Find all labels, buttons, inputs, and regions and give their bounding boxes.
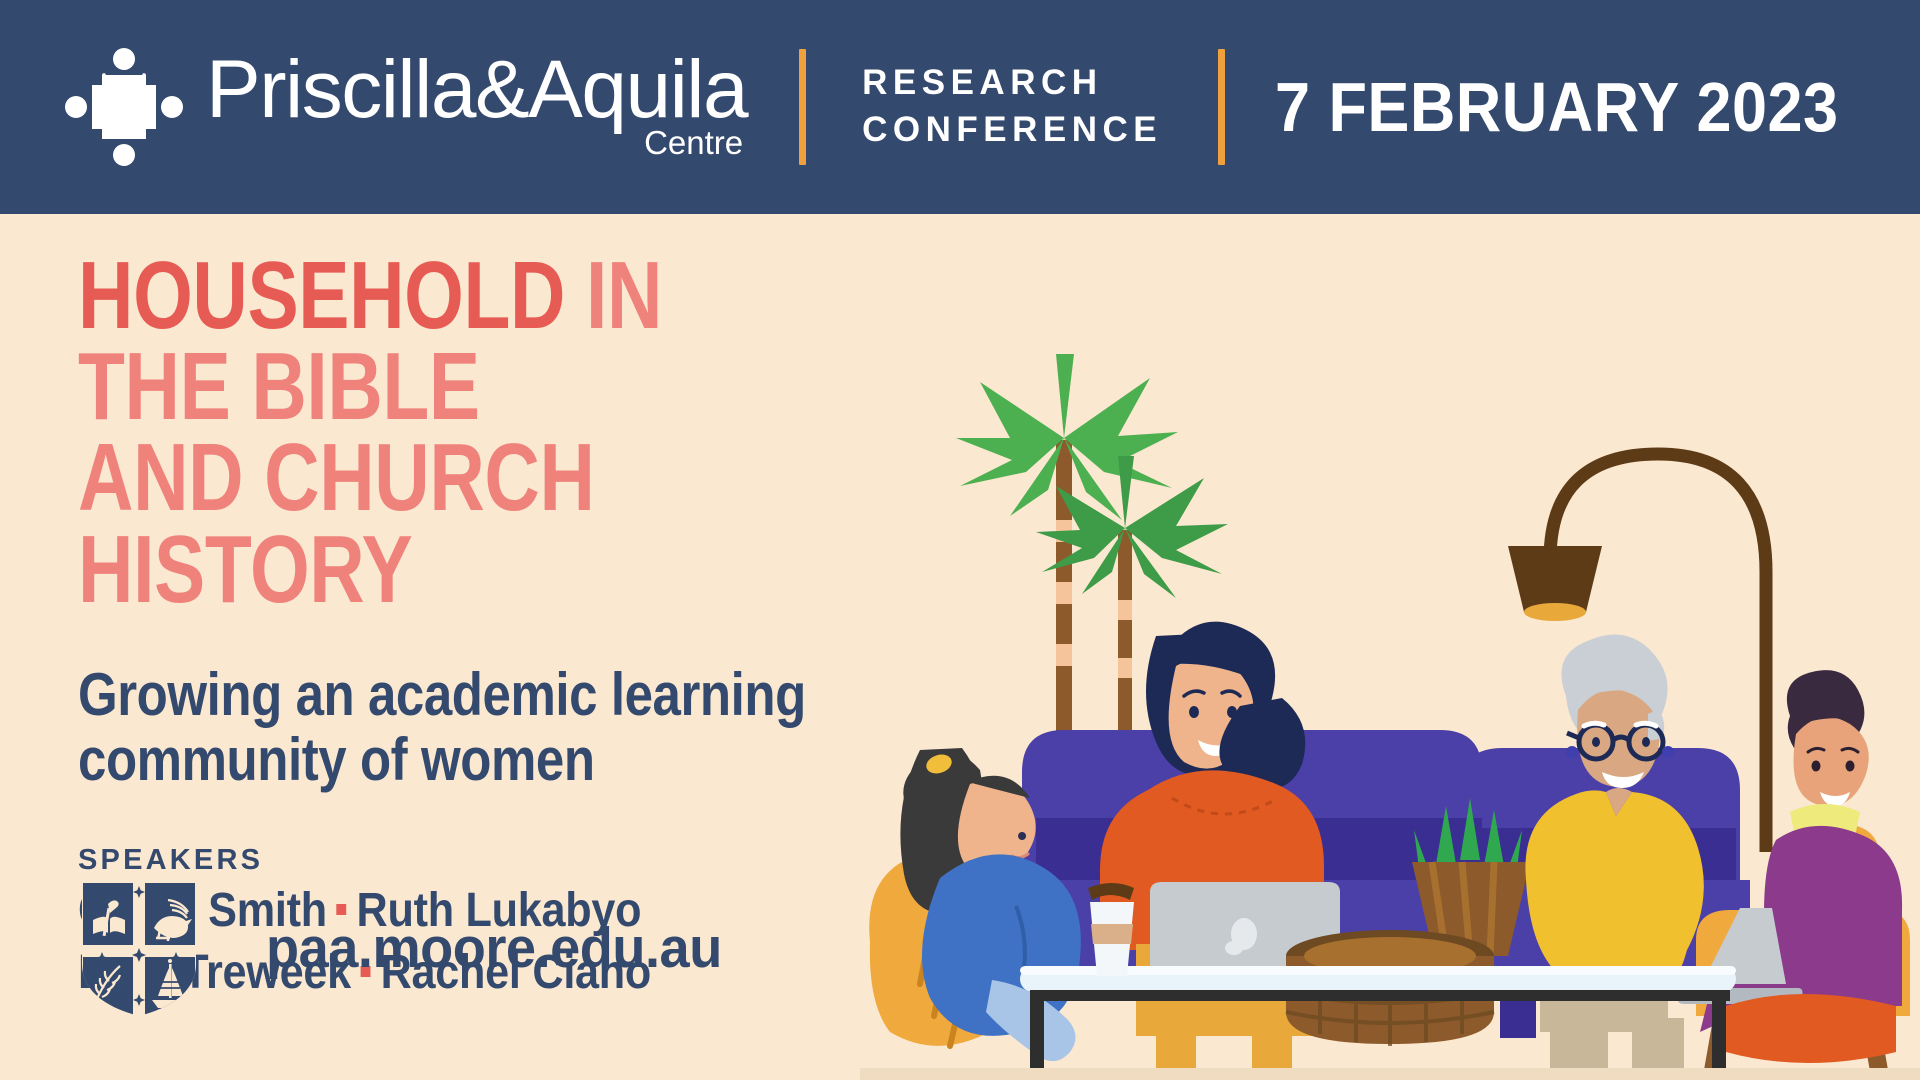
page-subtitle-line2: community of women: [78, 728, 869, 793]
website-url[interactable]: paa.moore.edu.au: [266, 915, 722, 981]
header-divider-2: [1218, 49, 1225, 165]
conference-promo-poster: Priscilla&Aquila Centre RESEARCH CONFERE…: [0, 0, 1920, 1080]
priscilla-aquila-quatrefoil-logo-icon: [58, 41, 190, 173]
four-women-studying-in-lounge-illustration: [860, 320, 1920, 1080]
conference-label-line2: CONFERENCE: [862, 107, 1162, 154]
page-subtitle-line1: Growing an academic learning: [78, 663, 869, 728]
brand-wordmark: Priscilla&Aquila Centre: [206, 52, 747, 161]
page-title-line2: AND CHURCH HISTORY: [78, 432, 822, 614]
footer-lockup: paa.moore.edu.au: [78, 878, 746, 1018]
header-divider-1: [799, 49, 806, 165]
conference-label: RESEARCH CONFERENCE: [862, 60, 1162, 153]
page-title-line1: HOUSEHOLD IN THE BIBLE: [78, 250, 822, 432]
moore-college-shield-crest-icon: [78, 878, 200, 1018]
event-date: 7 FEBRUARY 2023: [1275, 67, 1838, 147]
page-title: HOUSEHOLD IN THE BIBLE AND CHURCH HISTOR…: [78, 250, 822, 615]
brand-name: Priscilla&Aquila: [206, 52, 747, 127]
event-date-wrap: 7 FEBRUARY 2023: [1275, 67, 1901, 147]
page-subtitle: Growing an academic learning community o…: [78, 663, 869, 793]
woman-yellow-cardigan-glasses-figure: [1525, 635, 1703, 1076]
header-bar: Priscilla&Aquila Centre RESEARCH CONFERE…: [0, 0, 1920, 214]
brand-lockup: Priscilla&Aquila Centre: [58, 41, 747, 173]
conference-label-line1: RESEARCH: [862, 60, 1162, 107]
